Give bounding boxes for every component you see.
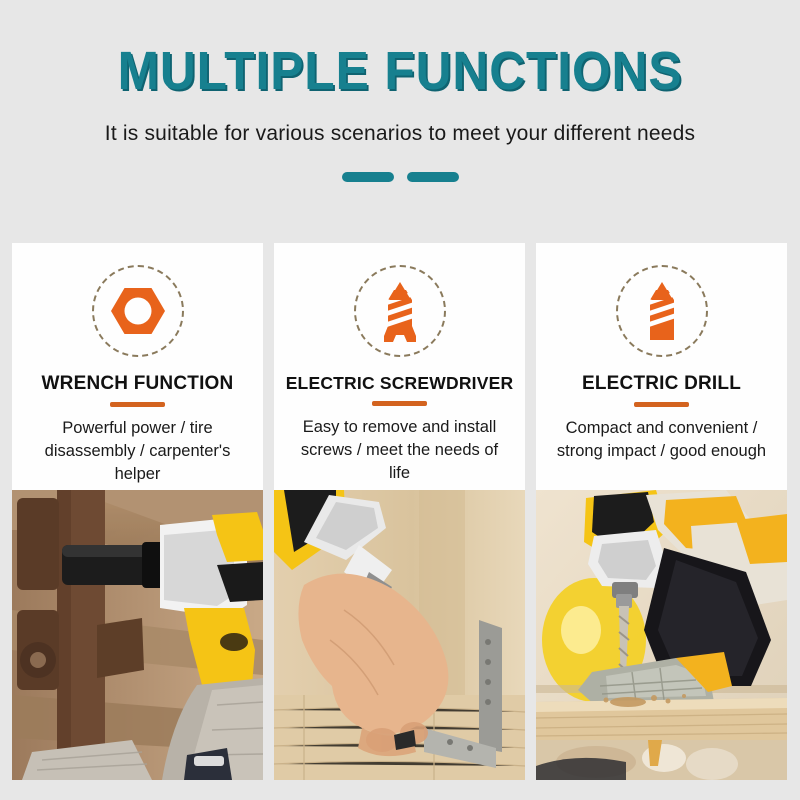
divider-dash-left <box>342 172 394 182</box>
title-rule <box>372 401 427 406</box>
screw-icon <box>371 278 429 344</box>
card-title: ELECTRIC SCREWDRIVER <box>286 373 514 394</box>
title-rule <box>110 402 165 407</box>
screw-icon-ring <box>354 265 446 357</box>
page-subtitle: It is suitable for various scenarios to … <box>0 122 800 146</box>
screwdriver-driving-screw-into-bracket-photo <box>274 490 525 780</box>
hex-nut-icon-ring <box>92 265 184 357</box>
card-title: WRENCH FUNCTION <box>42 373 234 395</box>
drill-bit-icon <box>633 278 691 344</box>
divider-dash-right <box>407 172 459 182</box>
feature-card-wrench: WRENCH FUNCTION Powerful power / tire di… <box>12 243 263 503</box>
photo-strip <box>12 490 788 780</box>
header: MULTIPLE FUNCTIONS It is suitable for va… <box>0 0 800 182</box>
page-title: MULTIPLE FUNCTIONS <box>32 44 768 98</box>
title-rule <box>634 402 689 407</box>
feature-card-screwdriver: ELECTRIC SCREWDRIVER Easy to remove and … <box>274 243 525 503</box>
drill-boring-hole-in-wood-photo <box>536 490 787 780</box>
drill-bit-icon-ring <box>616 265 708 357</box>
feature-card-drill: ELECTRIC DRILL Compact and convenient / … <box>536 243 787 503</box>
hex-nut-icon <box>107 280 169 342</box>
divider <box>0 172 800 182</box>
card-title: ELECTRIC DRILL <box>582 373 741 395</box>
feature-cards: WRENCH FUNCTION Powerful power / tire di… <box>12 243 788 503</box>
impact-wrench-on-rusty-bolt-photo <box>12 490 263 780</box>
card-description: Compact and convenient / strong impact /… <box>553 417 771 481</box>
infographic-page: MULTIPLE FUNCTIONS It is suitable for va… <box>0 0 800 800</box>
